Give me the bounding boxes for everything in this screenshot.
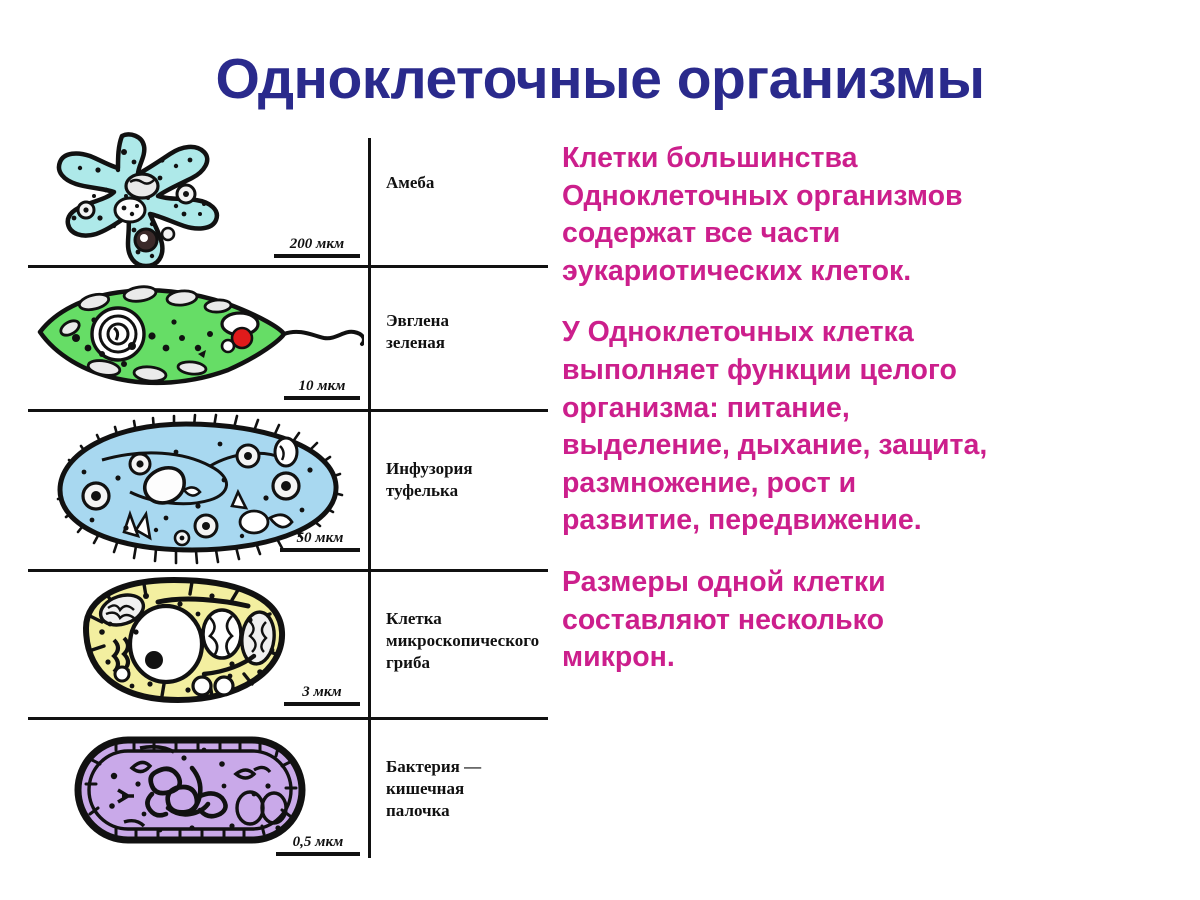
slide-root: Одноклеточные организмы xyxy=(0,0,1200,900)
scale-bar-paramecium: 50 мкм xyxy=(280,530,360,552)
scale-bar-label: 0,5 мкм xyxy=(293,834,344,850)
page-title: Одноклеточные организмы xyxy=(0,46,1200,112)
paragraph-1: Клетки большинства Одноклеточных организ… xyxy=(562,140,1182,290)
scale-bar-line xyxy=(284,396,360,400)
scale-bar-line xyxy=(280,548,360,552)
description-text-column: Клетки большинства Одноклеточных организ… xyxy=(562,140,1182,701)
scale-bar-label: 50 мкм xyxy=(297,530,344,546)
scale-bar-label: 200 мкм xyxy=(290,236,344,252)
organism-label-paramecium: Инфузория туфелька xyxy=(386,458,473,502)
scale-bar-line xyxy=(276,852,360,856)
organism-label-bacterium: Бактерия — кишечная палочка xyxy=(386,756,481,821)
paragraph-2: У Одноклеточных клетка выполняет функции… xyxy=(562,314,1182,540)
organism-label-fungus: Клетка микроскопического гриба xyxy=(386,608,539,673)
paragraph-3: Размеры одной клетки составляют нескольк… xyxy=(562,564,1182,677)
scale-bar-label: 10 мкм xyxy=(299,378,346,394)
scale-bar-bacterium: 0,5 мкм xyxy=(276,834,360,856)
organism-label-amoeba: Амеба xyxy=(386,172,434,194)
table-row: Бактерия — кишечная палочка 0,5 мкм xyxy=(28,720,548,868)
organism-table: Амеба 200 мкм xyxy=(28,128,548,868)
scale-bar-euglena: 10 мкм xyxy=(284,378,360,400)
scale-bar-amoeba: 200 мкм xyxy=(274,236,360,258)
table-row: Клетка микроскопического гриба 3 мкм xyxy=(28,572,548,720)
table-row: Инфузория туфелька 50 мкм xyxy=(28,412,548,572)
table-row: Эвглена зеленая 10 мкм xyxy=(28,268,548,412)
scale-bar-line xyxy=(274,254,360,258)
scale-bar-line xyxy=(284,702,360,706)
table-row: Амеба 200 мкм xyxy=(28,128,548,268)
organism-label-euglena: Эвглена зеленая xyxy=(386,310,449,354)
scale-bar-label: 3 мкм xyxy=(302,684,341,700)
scale-bar-fungus: 3 мкм xyxy=(284,684,360,706)
